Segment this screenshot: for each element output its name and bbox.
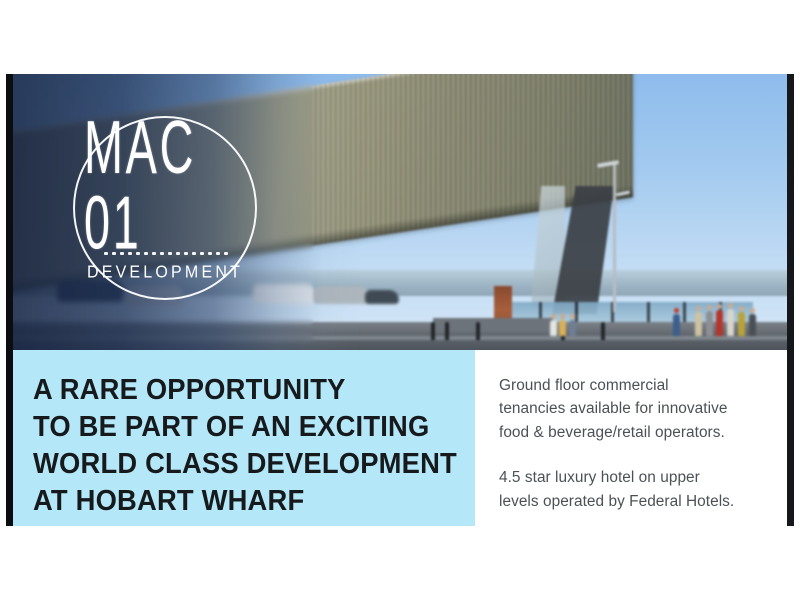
logo-wordmark: MAC 01 — [84, 111, 246, 262]
logo-subtitle: DEVELOPMENT — [87, 263, 243, 283]
advertisement-card: MAC 01 DEVELOPMENT A RARE OPPORTUNITY TO… — [6, 74, 794, 526]
logo-dotted-divider — [102, 252, 228, 255]
body-paragraph-commercial-tenancies: Ground floor commercial tenancies availa… — [499, 374, 769, 444]
hero-photo: MAC 01 DEVELOPMENT — [13, 74, 787, 350]
lower-content-area: A RARE OPPORTUNITY TO BE PART OF AN EXCI… — [13, 350, 787, 526]
page-canvas: MAC 01 DEVELOPMENT A RARE OPPORTUNITY TO… — [0, 0, 800, 600]
body-copy-panel: Ground floor commercial tenancies availa… — [475, 350, 787, 526]
card-left-border — [6, 74, 13, 526]
body-paragraph-hotel: 4.5 star luxury hotel on upper levels op… — [499, 466, 769, 513]
card-right-border — [787, 74, 794, 526]
mac01-logo: MAC 01 DEVELOPMENT — [73, 116, 257, 300]
headline-panel: A RARE OPPORTUNITY TO BE PART OF AN EXCI… — [13, 350, 475, 526]
headline-text: A RARE OPPORTUNITY TO BE PART OF AN EXCI… — [33, 372, 457, 520]
